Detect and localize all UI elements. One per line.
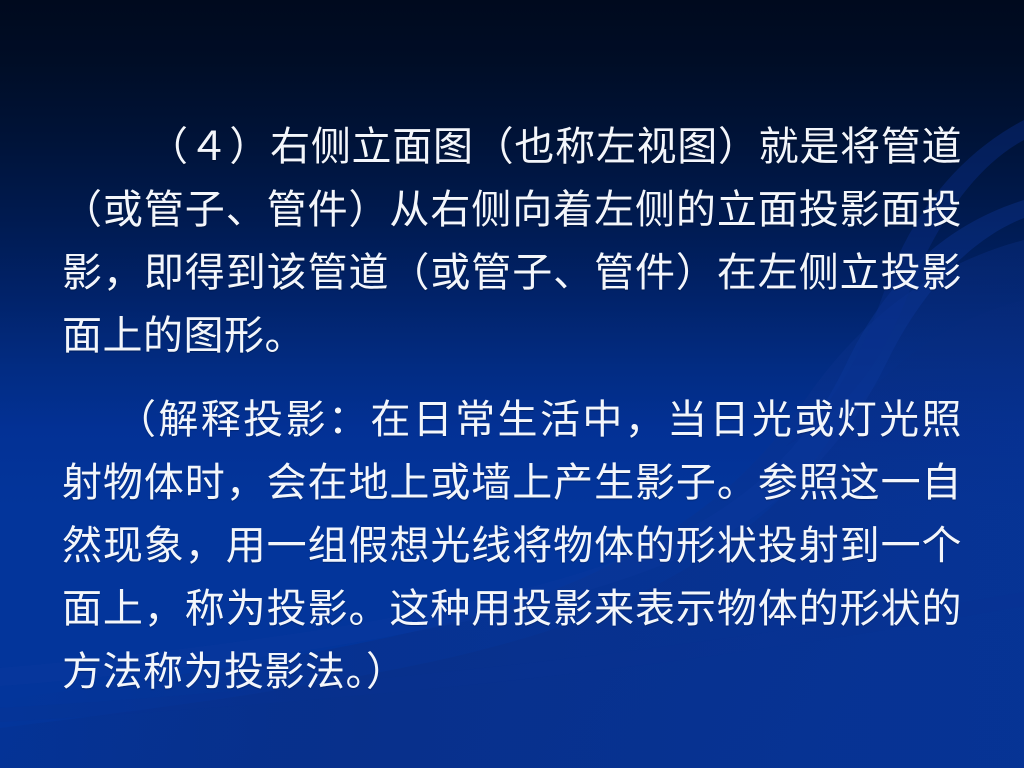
paragraph-1: （４）右侧立面图（也称左视图）就是将管道（或管子、管件）从右侧向着左侧的立面投影…: [62, 0, 962, 368]
paragraph-2: （解释投影：在日常生活中，当日光或灯光照射物体时，会在地上或墙上产生影子。参照这…: [62, 368, 962, 704]
presentation-slide: （４）右侧立面图（也称左视图）就是将管道（或管子、管件）从右侧向着左侧的立面投影…: [0, 0, 1024, 768]
slide-text-body: （４）右侧立面图（也称左视图）就是将管道（或管子、管件）从右侧向着左侧的立面投影…: [0, 0, 1024, 768]
